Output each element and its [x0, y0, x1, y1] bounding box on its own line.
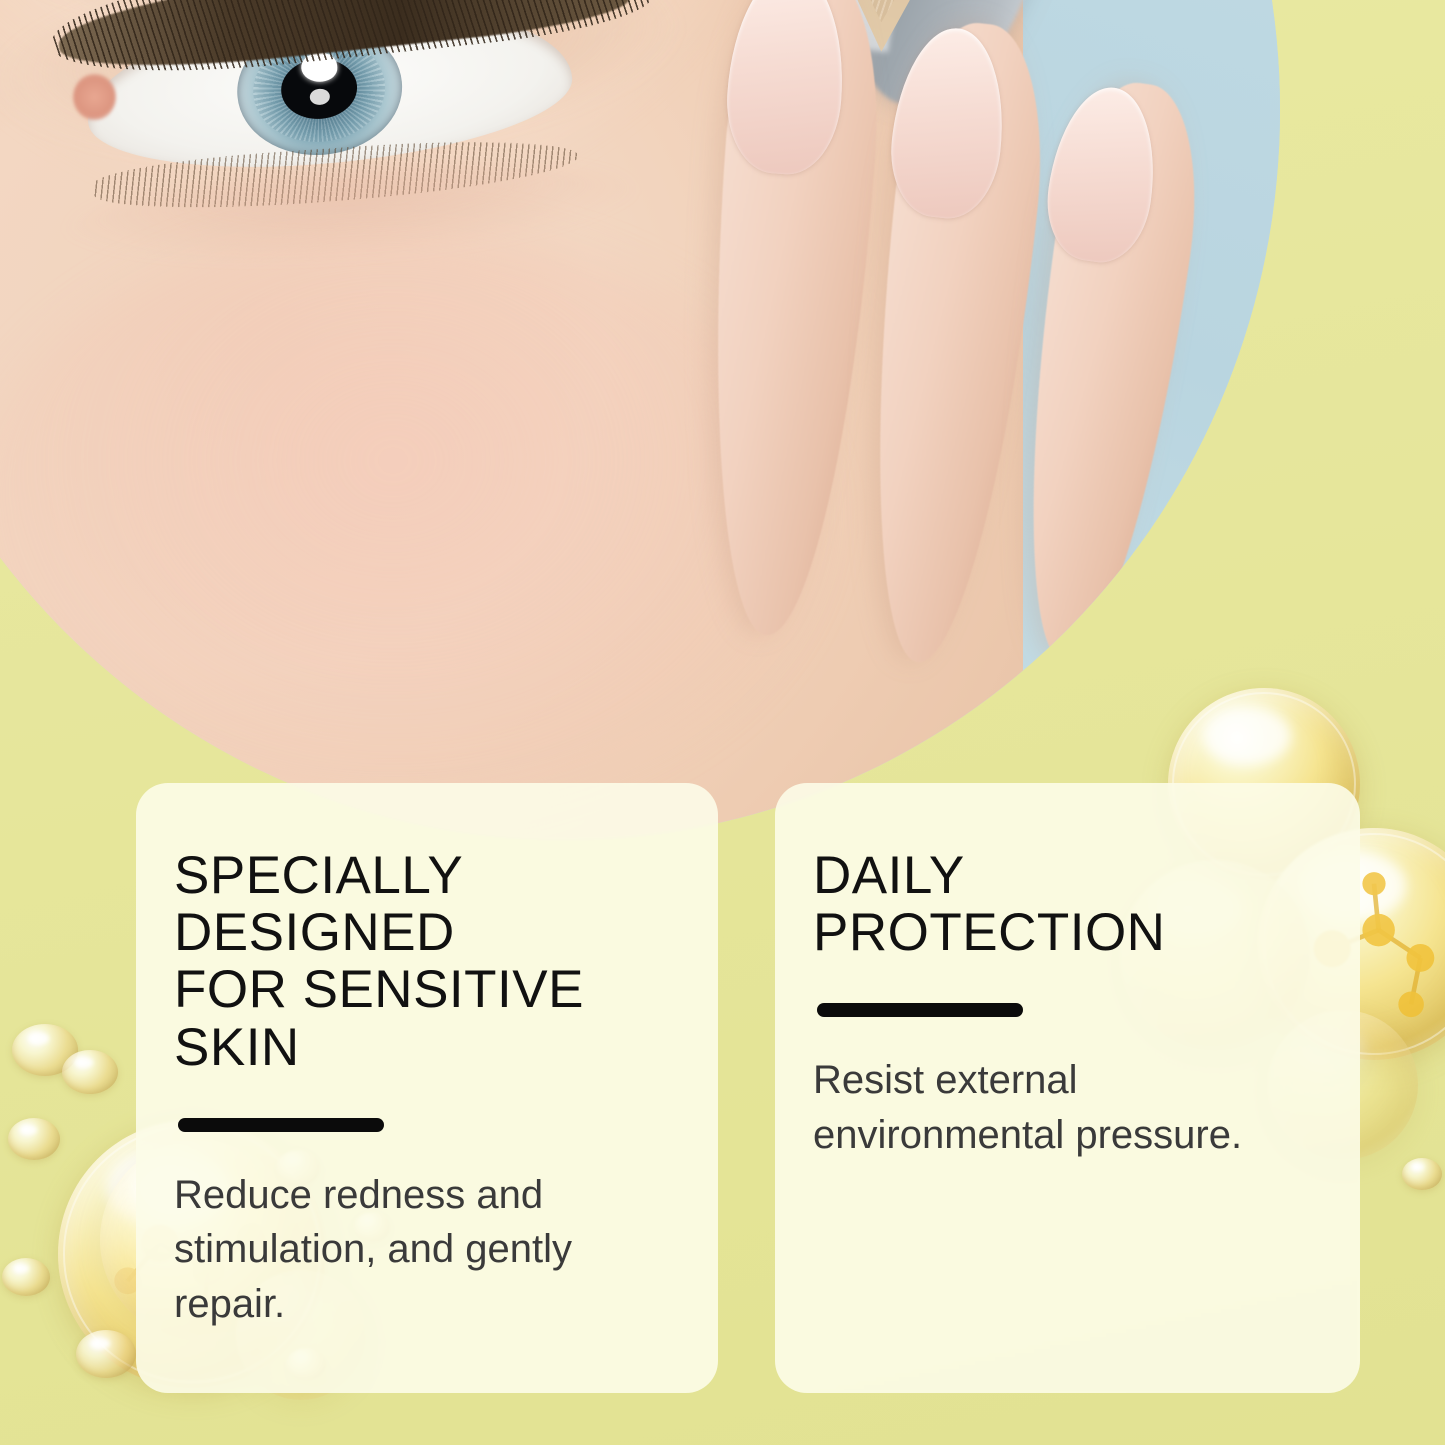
feature-card-divider — [817, 1003, 1023, 1017]
hero-photo-circle — [0, 0, 1280, 840]
serum-droplet — [2, 1258, 50, 1296]
serum-droplet — [1402, 1158, 1442, 1190]
feature-card-divider — [178, 1118, 384, 1132]
serum-droplet — [12, 1024, 78, 1076]
feature-card-title: DAILY PROTECTION — [813, 847, 1316, 961]
feature-card-title: SPECIALLY DESIGNED FOR SENSITIVE SKIN — [174, 847, 674, 1076]
feature-card-body: Resist external environmental pressure. — [813, 1053, 1316, 1162]
feature-card-body: Reduce redness and stimulation, and gent… — [174, 1168, 674, 1331]
hero-photo — [0, 0, 1280, 840]
serum-droplet — [8, 1118, 60, 1160]
tear-duct — [73, 74, 116, 121]
feature-card-sensitive-skin: SPECIALLY DESIGNED FOR SENSITIVE SKIN Re… — [136, 783, 718, 1393]
product-feature-banner: SPECIALLY DESIGNED FOR SENSITIVE SKIN Re… — [0, 0, 1445, 1445]
cheek-blush — [0, 227, 822, 811]
serum-droplet — [76, 1330, 136, 1378]
serum-droplet — [62, 1050, 118, 1094]
feature-card-daily-protection: DAILY PROTECTION Resist external environ… — [775, 783, 1360, 1393]
